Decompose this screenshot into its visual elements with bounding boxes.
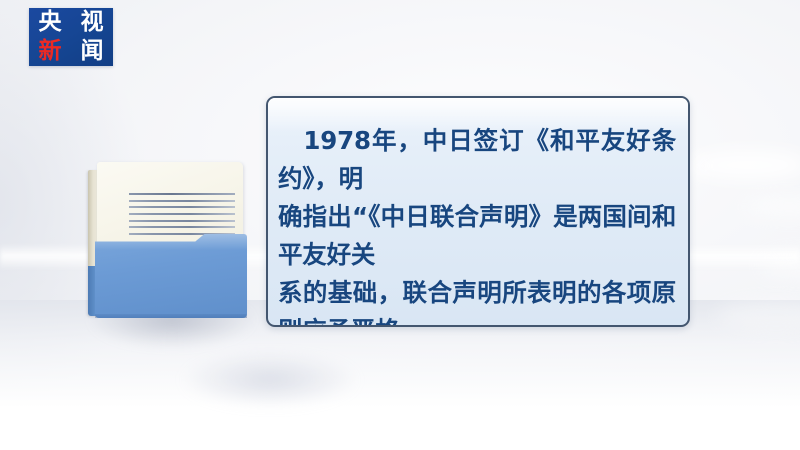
document-line: [129, 226, 235, 228]
document-line: [129, 200, 235, 202]
cctv-news-logo: 央 视 新 闻: [29, 8, 113, 66]
folder-bottom-edge: [95, 314, 247, 318]
document-text-lines: [129, 193, 235, 235]
background-smudge: [180, 352, 360, 408]
document-line: [129, 220, 235, 222]
quote-card: 1978年，中日签订《和平友好条约》，明 确指出“《中日联合声明》是两国间和平友…: [266, 96, 690, 327]
folder-illustration: [88, 158, 252, 348]
document-line: [129, 213, 235, 215]
logo-char-shi: 视: [81, 11, 104, 34]
news-graphic-stage: 央 视 新 闻 1978年，中日签订《和平友好条约》，明 确指出: [0, 0, 800, 450]
quote-text: 1978年，中日签订《和平友好条约》，明 确指出“《中日联合声明》是两国间和平友…: [268, 98, 688, 327]
logo-char-wen: 闻: [81, 40, 104, 63]
document-line: [129, 206, 235, 208]
document-line: [129, 193, 235, 195]
logo-char-yang: 央: [39, 11, 62, 34]
folder-front-pocket: [95, 234, 247, 318]
logo-char-xin: 新: [39, 40, 62, 63]
